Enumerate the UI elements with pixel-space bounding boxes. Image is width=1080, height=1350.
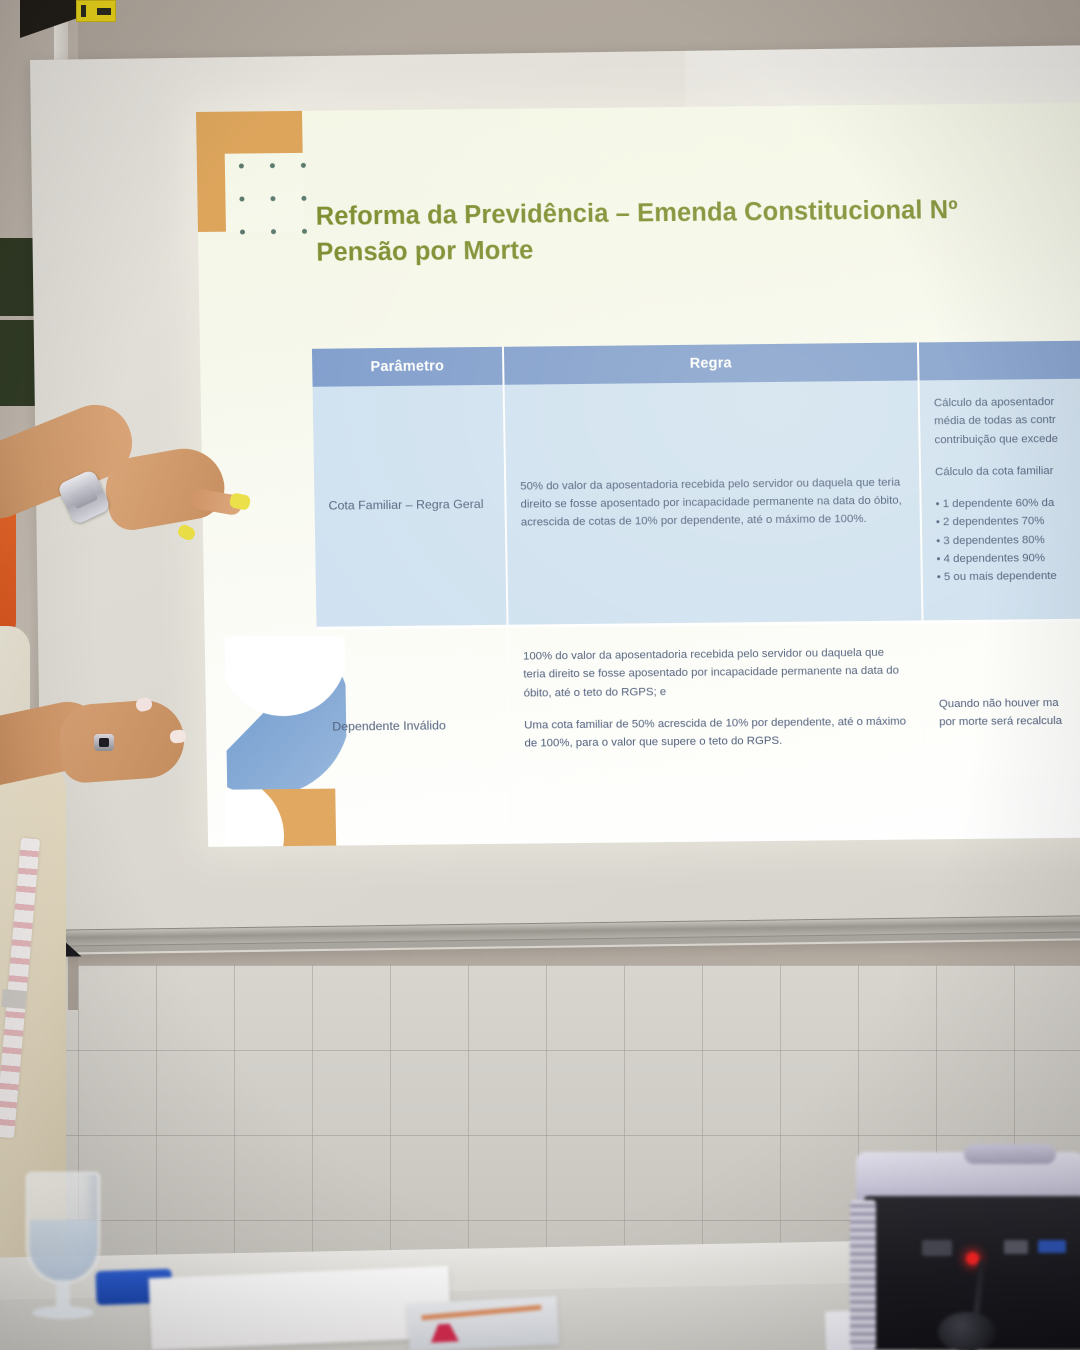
photo-scene: Reforma da Previdência – Emenda Constitu… <box>0 0 1080 1350</box>
cell-third-bullets: 1 dependente 60% da 2 dependentes 70% 3 … <box>935 492 1080 587</box>
ring-icon <box>94 734 114 751</box>
cell-regra-paragraph: 100% do valor da aposentadoria recebida … <box>523 644 909 703</box>
table-row: Dependente Inválido 100% do valor da apo… <box>317 619 1080 825</box>
projector-handle <box>964 1144 1056 1164</box>
cell-third-paragraph: Quando não houver ma <box>939 692 1080 714</box>
cell-third-paragraph: média de todas as contr <box>934 409 1080 431</box>
projector-power-led <box>966 1252 979 1265</box>
list-item: 5 ou mais dependente <box>937 565 1080 587</box>
slide-table: Parâmetro Regra Cota Familiar – Regra Ge… <box>312 339 1080 826</box>
projector-port <box>922 1240 952 1256</box>
list-item: 4 dependentes 90% <box>936 546 1080 568</box>
column-header-parametro: Parâmetro <box>312 347 505 387</box>
cell-third-paragraph: por morte será recalcula <box>939 710 1080 732</box>
column-header-regra: Regra <box>504 342 920 384</box>
list-item: 1 dependente 60% da <box>935 492 1080 514</box>
cell-regra: 100% do valor da aposentadoria recebida … <box>509 623 927 823</box>
small-package <box>407 1296 559 1350</box>
notebook <box>149 1266 452 1350</box>
cell-regra-paragraph: 50% do valor da aposentadoria recebida p… <box>520 473 906 532</box>
slide-title-line1: Reforma da Previdência – Emenda Constitu… <box>316 196 958 231</box>
projector-lens <box>938 1312 996 1350</box>
cell-regra-paragraph: Uma cota familiar de 50% acrescida de 10… <box>524 712 910 753</box>
cell-third: Cálculo da aposentador média de todas as… <box>920 377 1080 621</box>
fingernail <box>176 523 197 542</box>
projector-vga-port <box>1038 1240 1066 1253</box>
cell-regra: 50% do valor da aposentadoria recebida p… <box>505 380 924 624</box>
cell-parametro: Cota Familiar – Regra Geral <box>313 385 509 627</box>
cell-third-paragraph: Cálculo da aposentador <box>934 391 1080 413</box>
slide-title: Reforma da Previdência – Emenda Constitu… <box>315 188 1080 271</box>
cell-parametro-label: Cota Familiar – Regra Geral <box>327 399 493 613</box>
badge-clip <box>1 989 26 1009</box>
cell-third-paragraph: Cálculo da cota familiar <box>935 459 1080 481</box>
glass-foot <box>32 1306 94 1319</box>
cell-parametro-label: Dependente Inválido <box>331 642 496 812</box>
column-header-third <box>919 339 1080 381</box>
projector-vent <box>850 1200 876 1350</box>
presenter-second-hand <box>57 698 186 784</box>
cell-third-paragraph: contribuição que excede <box>934 427 1080 449</box>
list-item: 2 dependentes 70% <box>936 510 1080 532</box>
table-row: Cota Familiar – Regra Geral 50% do valor… <box>313 377 1080 630</box>
projector-port <box>1004 1240 1028 1254</box>
dot-grid-icon <box>239 163 314 238</box>
cell-third: Quando não houver ma por morte será reca… <box>924 619 1080 819</box>
projected-slide: Reforma da Previdência – Emenda Constitu… <box>196 102 1080 847</box>
projector <box>856 1152 1080 1350</box>
water-glass <box>22 1172 104 1330</box>
warning-sign-icon <box>76 0 116 22</box>
cell-parametro: Dependente Inválido <box>317 628 512 826</box>
list-item: 3 dependentes 80% <box>936 528 1080 550</box>
slide-title-line2: Pensão por Morte <box>316 224 1080 271</box>
